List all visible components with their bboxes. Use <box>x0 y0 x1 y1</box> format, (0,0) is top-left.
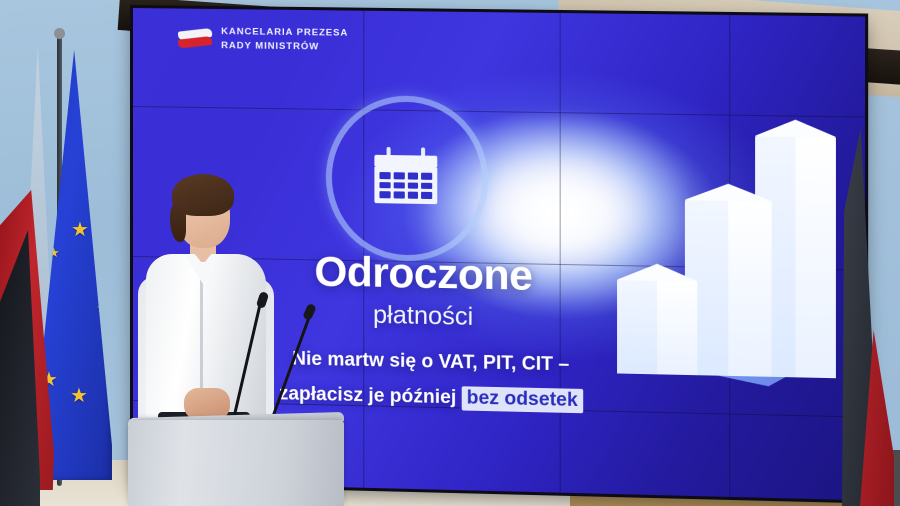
speaker-hair-side <box>170 202 186 242</box>
slide-subhead: płatności <box>221 298 627 335</box>
logo-text: KANCELARIA PREZESA RADY MINISTRÓW <box>221 25 348 54</box>
slide-headline: Odroczone <box>221 246 627 302</box>
logo-line-2: RADY MINISTRÓW <box>221 39 348 54</box>
kprm-logo: KANCELARIA PREZESA RADY MINISTRÓW <box>178 25 348 55</box>
speaker-at-podium <box>140 154 270 434</box>
calendar-header <box>374 155 437 168</box>
eu-star-1: ★ <box>71 220 89 240</box>
flag-finial-eu <box>54 28 65 39</box>
eu-star-4: ★ <box>70 386 88 406</box>
calendar-icon <box>374 147 437 204</box>
slide-tagline-highlight: bez odsetek <box>462 386 583 413</box>
slide-tagline-prefix: zapłacisz je później <box>279 383 456 408</box>
panel-seam-h1 <box>133 106 865 118</box>
bar-2 <box>685 183 772 396</box>
screenshot-scene: KANCELARIA PREZESA RADY MINISTRÓW <box>0 0 900 506</box>
calendar-grid <box>374 167 437 204</box>
polish-flag-emblem-icon <box>178 28 212 48</box>
lectern <box>128 420 344 506</box>
logo-line-1: KANCELARIA PREZESA <box>221 25 348 40</box>
